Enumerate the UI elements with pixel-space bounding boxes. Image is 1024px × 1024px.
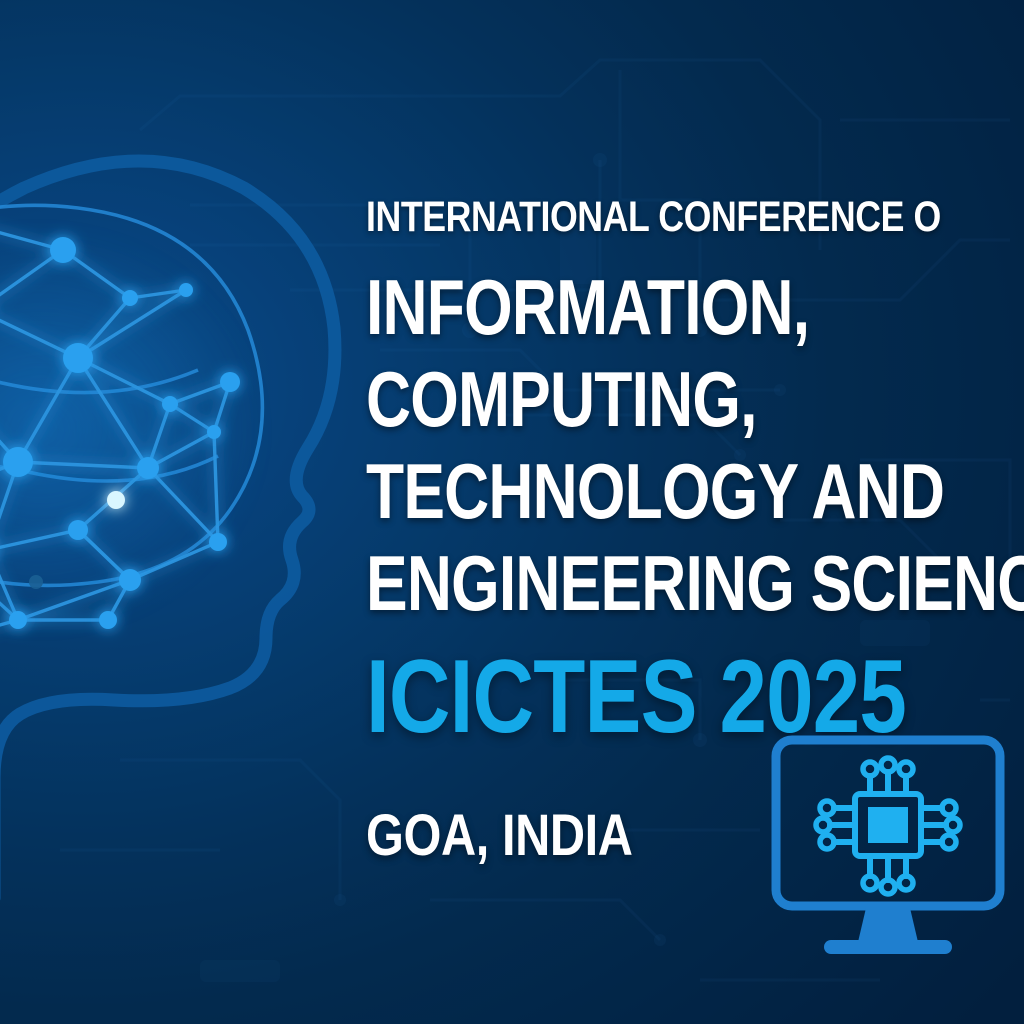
title-line: TECHNOLOGY AND	[366, 445, 926, 537]
brain-network-nodes	[0, 150, 338, 710]
head-profile-outline	[0, 118, 394, 898]
monitor-icon	[770, 736, 1006, 962]
brain-glow	[0, 150, 350, 710]
conference-title: INFORMATION, COMPUTING, TECHNOLOGY AND E…	[366, 261, 1024, 629]
title-line: COMPUTING,	[366, 353, 926, 445]
kicker-line: INTERNATIONAL CONFERENCE O	[366, 196, 947, 239]
title-line: ENGINEERING SCIENC	[366, 537, 926, 629]
conference-banner: INTERNATIONAL CONFERENCE O INFORMATION, …	[0, 0, 1024, 1024]
title-line: INFORMATION,	[366, 261, 926, 353]
conference-acronym: ICICTES 2025	[366, 645, 940, 749]
